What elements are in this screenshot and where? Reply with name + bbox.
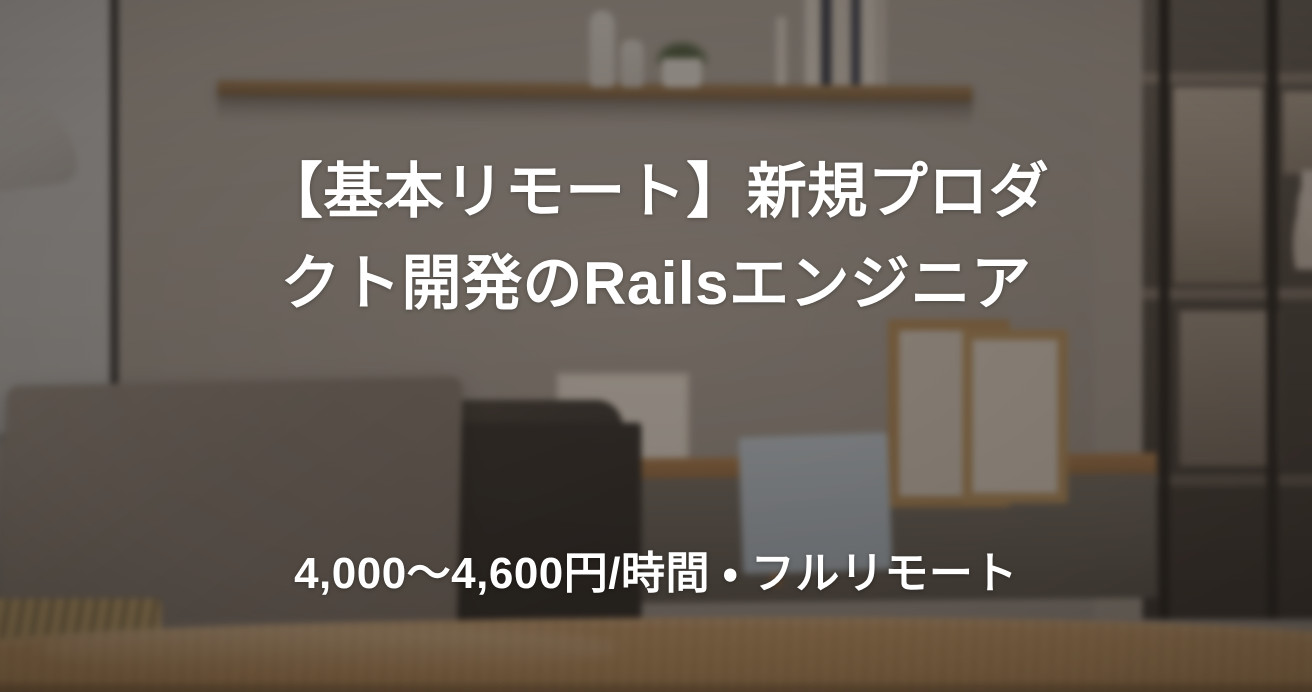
banner-content: 【基本リモート】新規プロダクト開発のRailsエンジニア 4,000〜4,600… — [0, 0, 1312, 692]
job-title: 【基本リモート】新規プロダクト開発のRailsエンジニア — [121, 146, 1191, 330]
job-posting-hero-banner: 【基本リモート】新規プロダクト開発のRailsエンジニア 4,000〜4,600… — [0, 0, 1312, 692]
job-meta-subtitle: 4,000〜4,600円/時間 ・ フルリモート — [0, 546, 1312, 602]
